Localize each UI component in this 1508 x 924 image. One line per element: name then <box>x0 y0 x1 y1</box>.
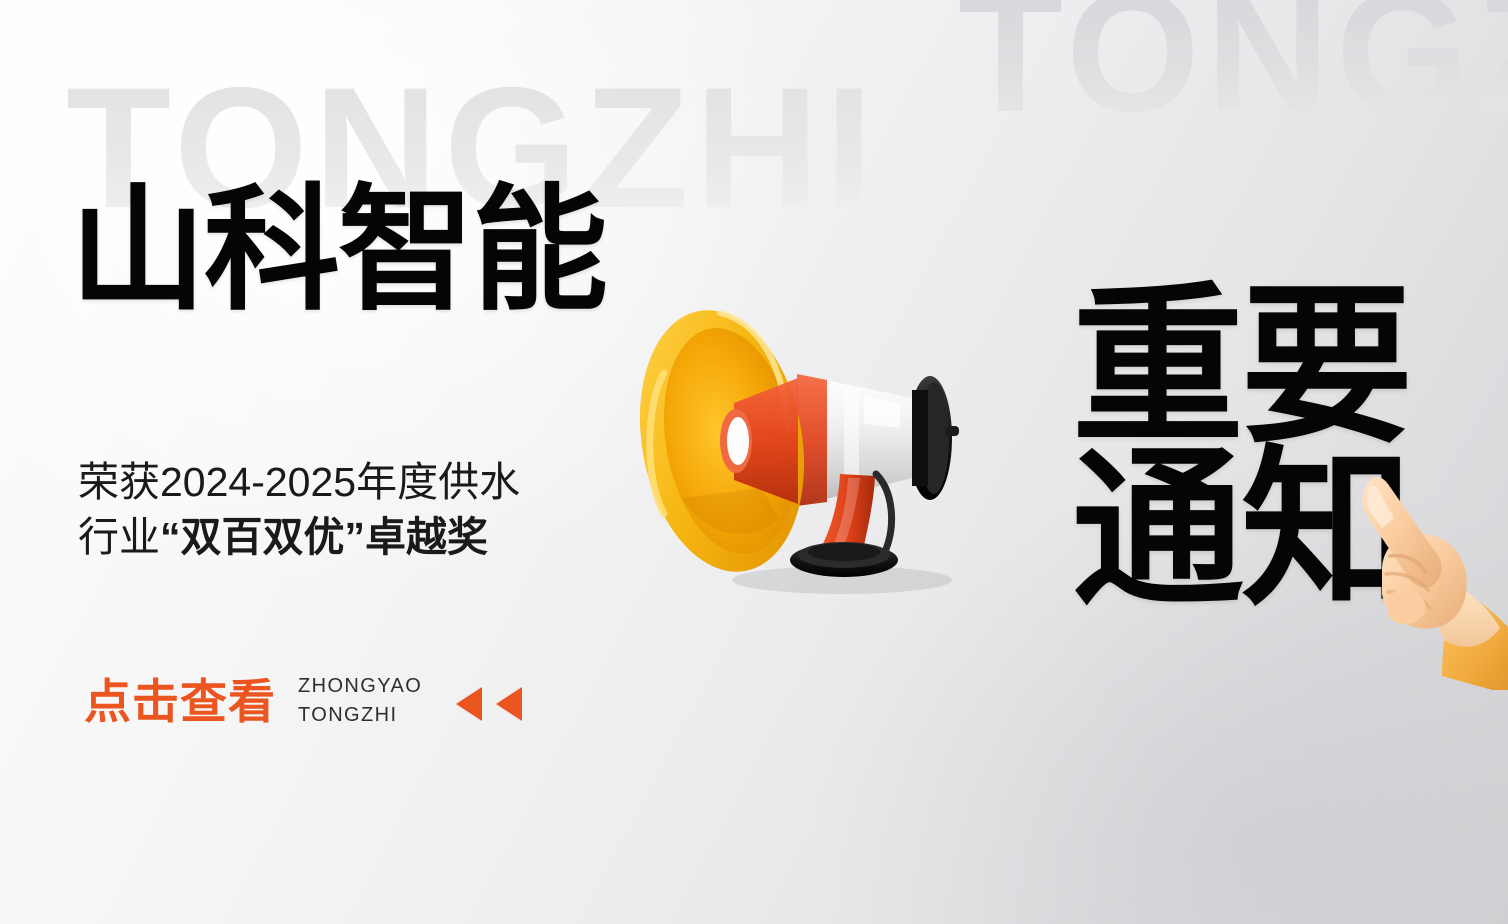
brand-title: 山科智能 <box>70 182 606 318</box>
headline-line-1: 重要 <box>1072 286 1410 449</box>
cta-pinyin-line-2: TONGZHI <box>298 701 422 730</box>
megaphone-illustration <box>612 278 1012 600</box>
subtitle-line-1: 荣获2024-2025年度供水 <box>78 455 608 510</box>
cta-pinyin: ZHONGYAO TONGZHI <box>298 672 422 730</box>
subtitle-suffix: 卓越奖 <box>365 514 488 560</box>
promotional-banner: TONGZHI TONGZHI <box>0 0 1508 924</box>
cta-row[interactable]: 点击查看 ZHONGYAO TONGZHI <box>84 672 522 730</box>
watermark-text-right: TONGZHI <box>958 0 1508 138</box>
subtitle-line-2: 行业“双百双优”卓越奖 <box>78 510 608 565</box>
award-subtitle: 荣获2024-2025年度供水 行业“双百双优”卓越奖 <box>78 455 608 564</box>
arrow-left-icon-2[interactable] <box>496 687 522 721</box>
subtitle-emphasis: “双百双优” <box>160 514 365 560</box>
subtitle-prefix: 行业 <box>78 514 160 560</box>
arrow-left-icon-1[interactable] <box>456 687 482 721</box>
cta-label[interactable]: 点击查看 <box>84 678 276 725</box>
cta-pinyin-line-1: ZHONGYAO <box>298 672 422 701</box>
pointing-hand-illustration <box>1338 470 1508 690</box>
cta-arrows[interactable] <box>456 687 522 721</box>
